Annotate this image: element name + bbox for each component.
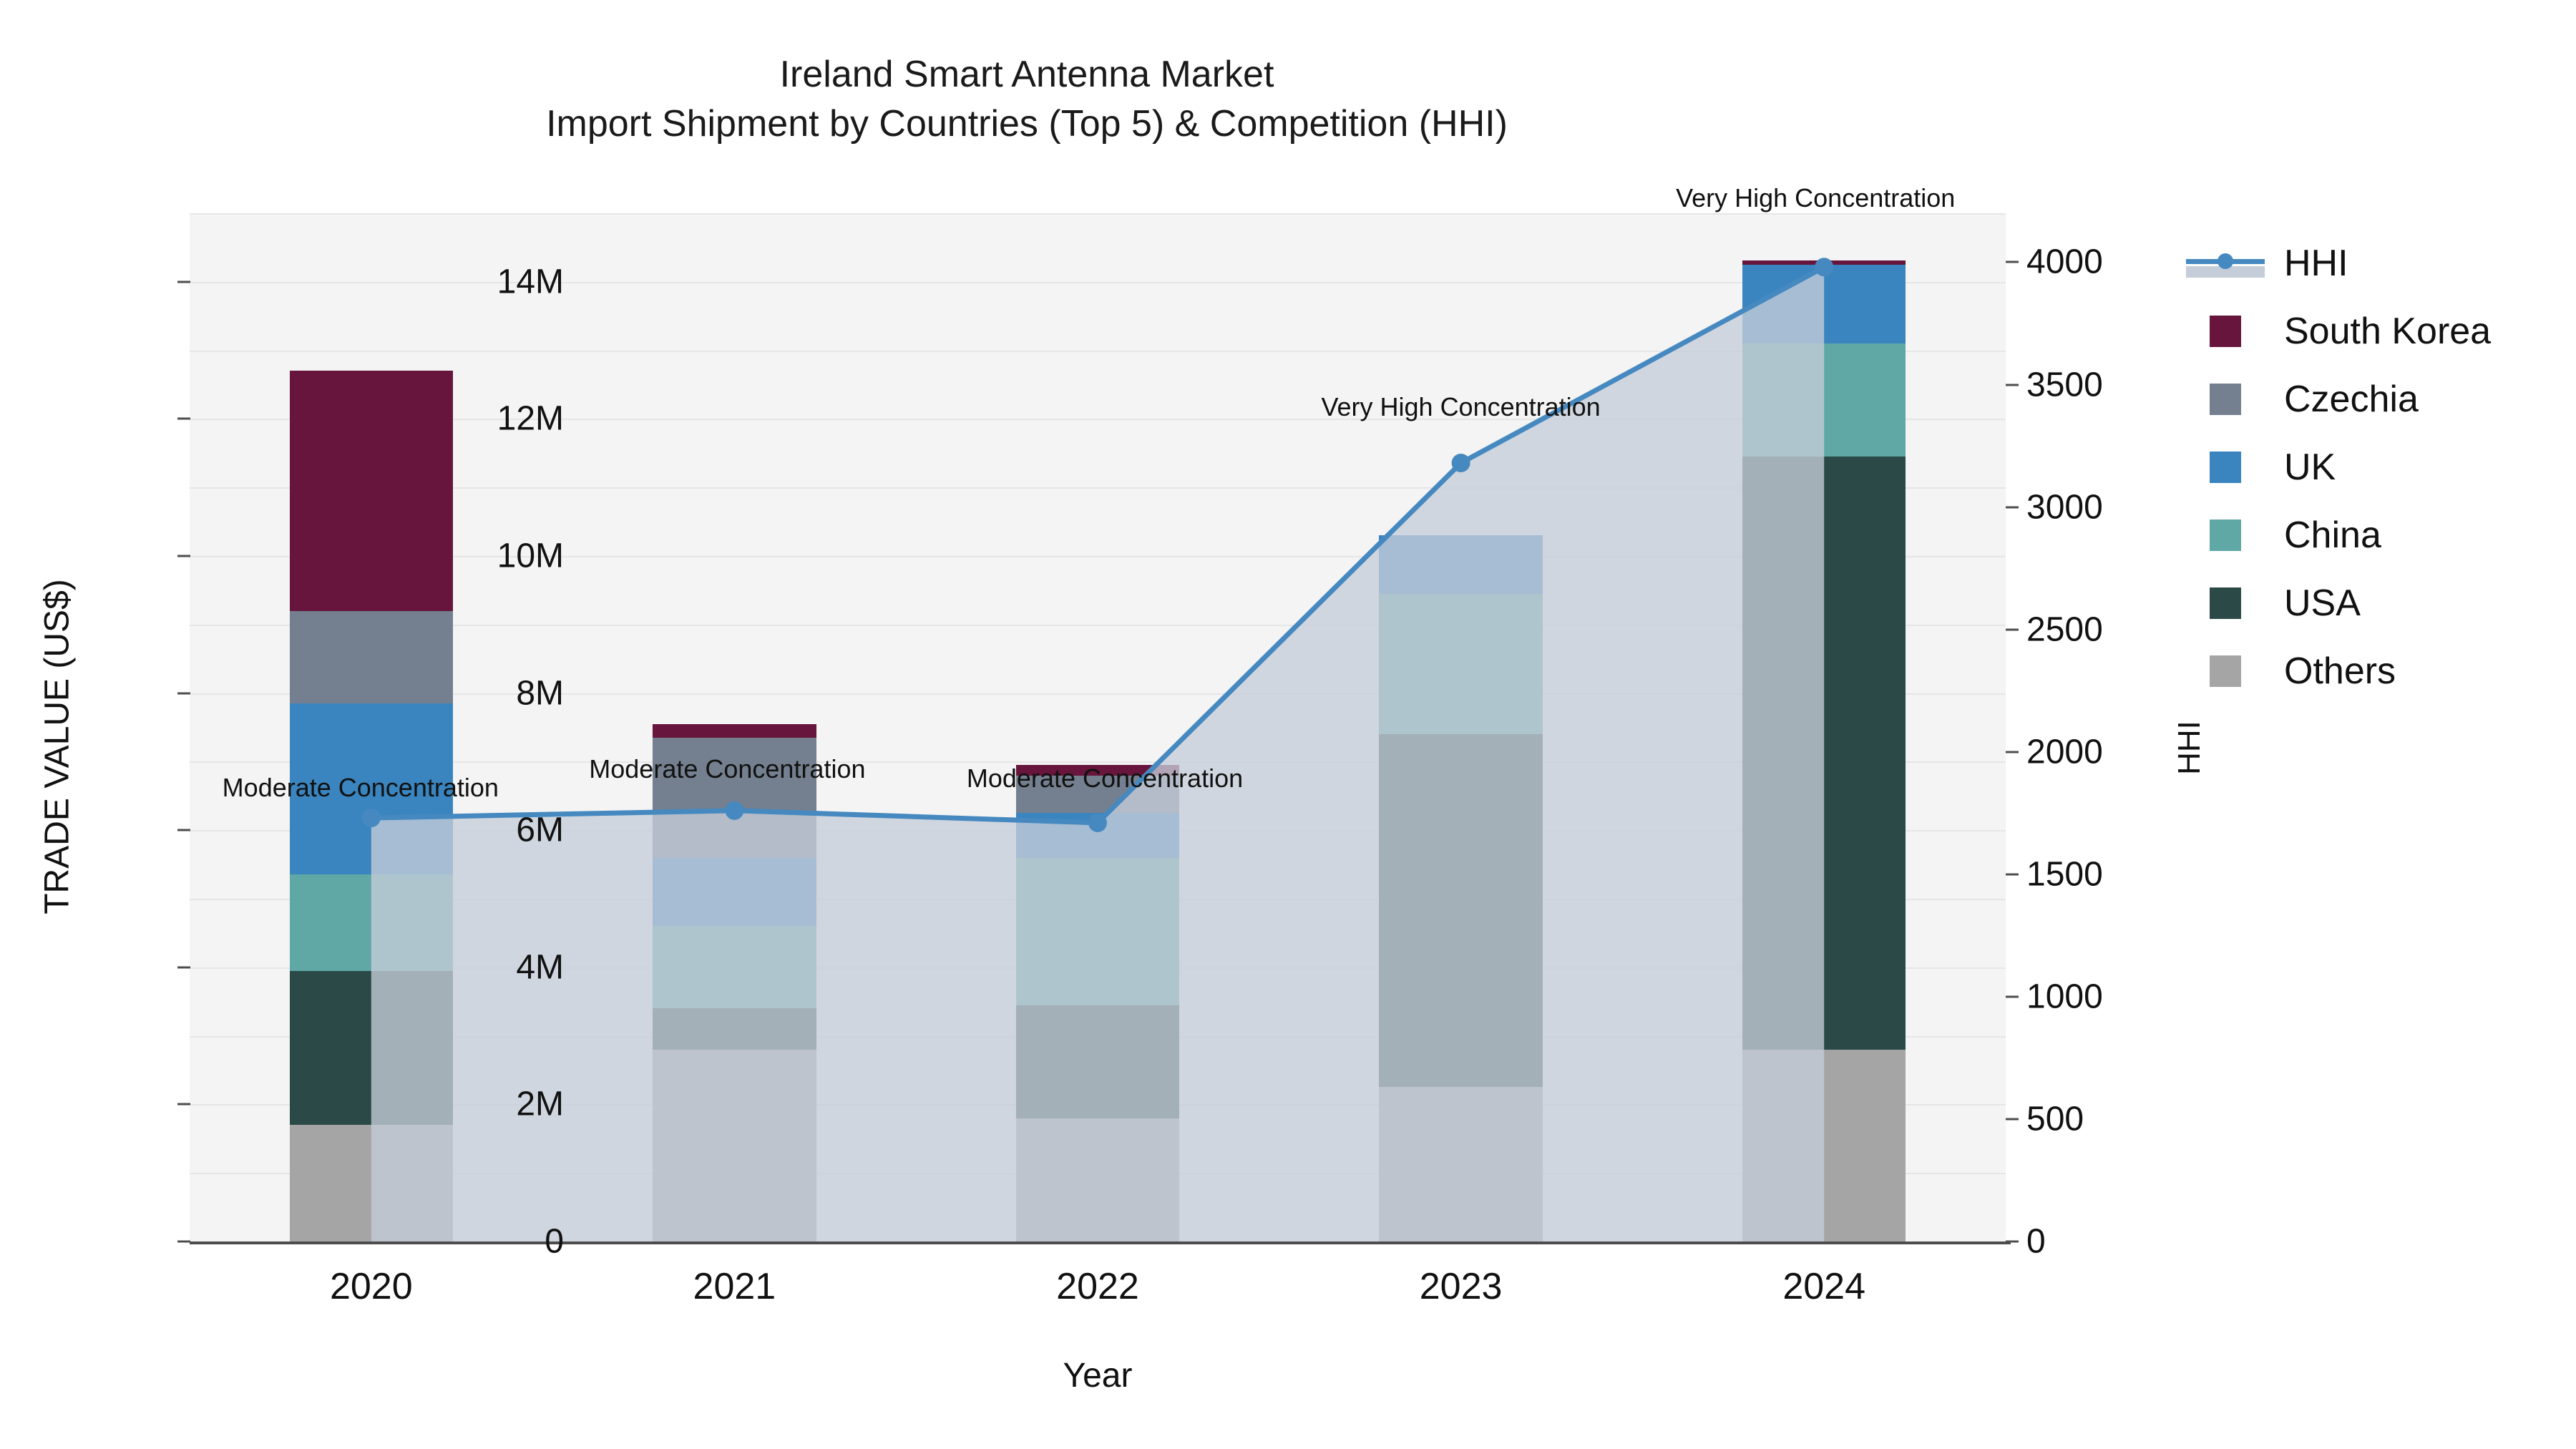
y-tickmark-left — [177, 1241, 190, 1243]
y-tick-right-3000: 3000 — [2026, 487, 2103, 527]
y-tick-left-4M: 4M — [516, 947, 564, 987]
hhi-marker-2022[interactable] — [1088, 814, 1107, 832]
x-axis-line — [190, 1241, 2011, 1244]
color-swatch — [2210, 452, 2241, 483]
hhi-marker-2024[interactable] — [1815, 258, 1833, 276]
legend-swatch-icon — [2182, 519, 2268, 551]
y-tick-right-1500: 1500 — [2026, 854, 2103, 894]
color-swatch — [2210, 384, 2241, 415]
y-tick-right-2500: 2500 — [2026, 610, 2103, 649]
legend: HHISouth KoreaCzechiaUKChinaUSAOthers — [2182, 229, 2491, 705]
y-tickmark-left — [177, 829, 190, 831]
y-tickmark-right — [2006, 261, 2019, 263]
color-swatch — [2210, 587, 2241, 619]
legend-item-south-korea[interactable]: South Korea — [2182, 297, 2491, 365]
y-tickmark-right — [2006, 1118, 2019, 1120]
plot-area — [190, 213, 2006, 1241]
y-tickmark-right — [2006, 506, 2019, 508]
hhi-legend-glyph — [2186, 248, 2265, 279]
legend-item-hhi[interactable]: HHI — [2182, 229, 2491, 297]
y-tickmark-left — [177, 966, 190, 968]
x-tick-2020: 2020 — [330, 1265, 413, 1308]
color-swatch — [2210, 519, 2241, 551]
y-tick-left-0: 0 — [545, 1222, 564, 1262]
legend-label: Others — [2284, 650, 2396, 693]
y-tick-right-0: 0 — [2026, 1222, 2046, 1262]
y-tickmark-right — [2006, 995, 2019, 997]
chart-title: Ireland Smart Antenna Market Import Ship… — [0, 50, 2054, 148]
legend-label: HHI — [2284, 242, 2348, 285]
legend-item-others[interactable]: Others — [2182, 637, 2491, 705]
y-tick-right-1000: 1000 — [2026, 977, 2103, 1016]
legend-label: South Korea — [2284, 310, 2491, 353]
y-tickmark-right — [2006, 751, 2019, 753]
x-tick-2024: 2024 — [1782, 1265, 1865, 1308]
y-tick-left-10M: 10M — [497, 537, 564, 576]
y-tick-left-2M: 2M — [516, 1085, 564, 1124]
legend-label: China — [2284, 514, 2381, 557]
x-axis-label: Year — [190, 1356, 2006, 1395]
y-tick-right-3500: 3500 — [2026, 365, 2103, 404]
hhi-marker-2021[interactable] — [725, 801, 743, 820]
legend-swatch-icon — [2182, 587, 2268, 619]
legend-item-china[interactable]: China — [2182, 501, 2491, 569]
y-tickmark-right — [2006, 873, 2019, 875]
y-tick-right-4000: 4000 — [2026, 243, 2103, 282]
y-tickmark-left — [177, 692, 190, 694]
color-swatch — [2210, 316, 2241, 347]
y-tickmark-left — [177, 280, 190, 283]
annotation-2024: Very High Concentration — [1676, 183, 1955, 213]
legend-item-usa[interactable]: USA — [2182, 569, 2491, 637]
x-tick-2022: 2022 — [1056, 1265, 1139, 1308]
title-line-1: Ireland Smart Antenna Market — [0, 50, 2054, 99]
y-axis-left-label: TRADE VALUE (US$) — [38, 475, 77, 1019]
y-tick-left-12M: 12M — [497, 399, 564, 439]
title-line-2: Import Shipment by Countries (Top 5) & C… — [0, 99, 2054, 149]
hhi-line-icon — [2182, 248, 2268, 279]
y-tick-right-500: 500 — [2026, 1099, 2084, 1138]
color-swatch — [2210, 655, 2241, 687]
hhi-marker-2023[interactable] — [1452, 454, 1470, 472]
y-tick-right-2000: 2000 — [2026, 732, 2103, 771]
legend-swatch-icon — [2182, 452, 2268, 483]
x-tick-2021: 2021 — [693, 1265, 776, 1308]
legend-label: UK — [2284, 446, 2336, 489]
hhi-area-fill — [371, 267, 1824, 1241]
hhi-dot-icon — [2218, 253, 2233, 269]
legend-label: USA — [2284, 582, 2361, 625]
legend-item-uk[interactable]: UK — [2182, 433, 2491, 501]
legend-swatch-icon — [2182, 655, 2268, 687]
legend-swatch-icon — [2182, 384, 2268, 415]
y-tick-left-8M: 8M — [516, 673, 564, 713]
hhi-marker-2020[interactable] — [362, 809, 381, 827]
y-tickmark-left — [177, 418, 190, 420]
legend-label: Czechia — [2284, 378, 2419, 421]
y-tickmark-right — [2006, 628, 2019, 630]
hhi-series — [190, 213, 2006, 1241]
x-tick-2023: 2023 — [1420, 1265, 1503, 1308]
y-tick-left-6M: 6M — [516, 811, 564, 850]
legend-swatch-icon — [2182, 316, 2268, 347]
y-tickmark-right — [2006, 384, 2019, 386]
y-tickmark-right — [2006, 1241, 2019, 1243]
y-tickmark-left — [177, 555, 190, 557]
legend-item-czechia[interactable]: Czechia — [2182, 365, 2491, 433]
y-tick-left-14M: 14M — [497, 262, 564, 301]
y-tickmark-left — [177, 1103, 190, 1106]
